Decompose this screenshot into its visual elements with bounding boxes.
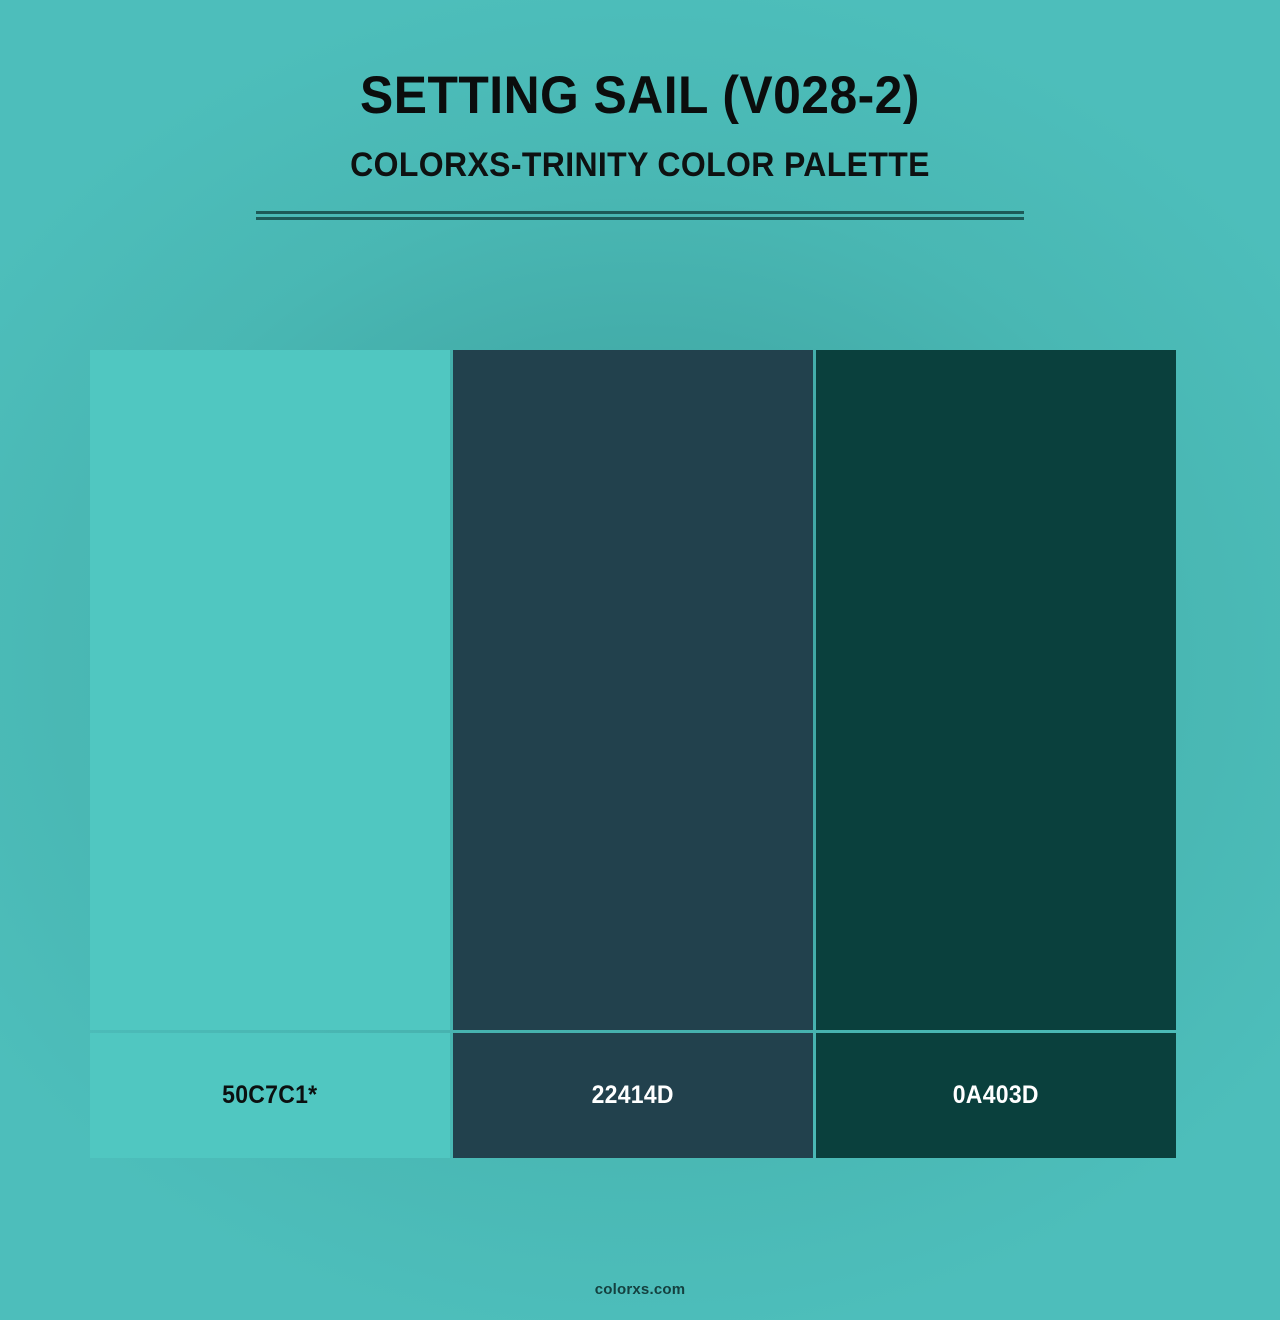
color-swatch-label-box[interactable]: 22414D bbox=[453, 1033, 813, 1158]
color-hex-label: 50C7C1* bbox=[222, 1081, 317, 1110]
color-hex-label: 22414D bbox=[592, 1081, 674, 1110]
page-title: SETTING SAIL (V028-2) bbox=[38, 66, 1241, 125]
color-swatch[interactable] bbox=[816, 350, 1176, 1030]
swatch-column[interactable]: 50C7C1* bbox=[90, 350, 450, 1158]
color-hex-label: 0A403D bbox=[953, 1081, 1039, 1110]
color-swatch[interactable] bbox=[90, 350, 450, 1030]
page-subtitle: COLORXS-TRINITY COLOR PALETTE bbox=[38, 147, 1241, 184]
header-divider bbox=[256, 211, 1024, 220]
color-swatch[interactable] bbox=[453, 350, 813, 1030]
color-swatch-label-box[interactable]: 0A403D bbox=[816, 1033, 1176, 1158]
swatch-column[interactable]: 0A403D bbox=[816, 350, 1176, 1158]
palette-header: SETTING SAIL (V028-2) COLORXS-TRINITY CO… bbox=[0, 0, 1280, 220]
color-palette: 50C7C1* 22414D 0A403D bbox=[90, 350, 1176, 1158]
color-swatch-label-box[interactable]: 50C7C1* bbox=[90, 1033, 450, 1158]
footer-site-label: colorxs.com bbox=[0, 1281, 1280, 1298]
swatch-column[interactable]: 22414D bbox=[453, 350, 813, 1158]
